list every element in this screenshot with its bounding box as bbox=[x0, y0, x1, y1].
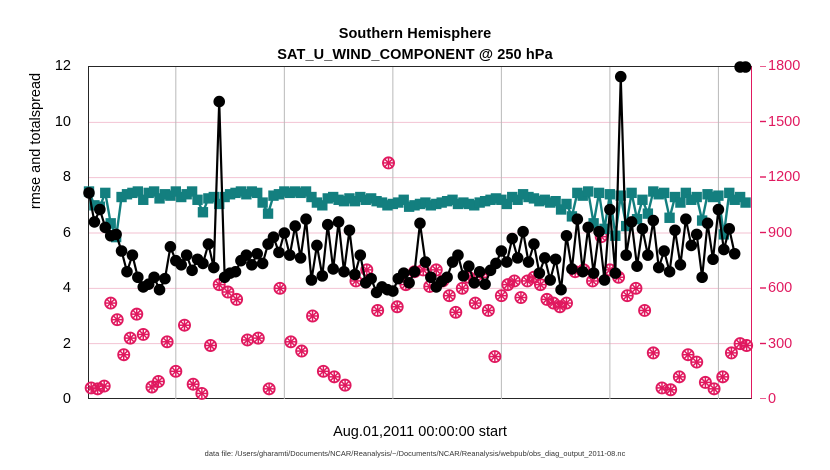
x-axis-title: Aug.01,2011 00:00:00 start bbox=[88, 424, 752, 440]
y-axis-left-tick: 2 bbox=[63, 336, 79, 352]
y-axis-left-tick: 8 bbox=[63, 169, 79, 185]
x-axis bbox=[88, 402, 752, 424]
y-axis-left-tick: 0 bbox=[63, 391, 79, 407]
y-axis-left-tick: 12 bbox=[55, 58, 79, 74]
chart-title: Southern Hemisphere SAT_U_WIND_COMPONENT… bbox=[0, 24, 830, 66]
plot-area bbox=[88, 66, 752, 399]
data-file-footer: data file: /Users/gharamti/Documents/NCA… bbox=[0, 449, 830, 458]
chart-title-line1: Southern Hemisphere bbox=[339, 26, 492, 42]
y-axis-left-title: rmse and totalspread bbox=[28, 1, 44, 281]
chart-legend bbox=[533, 78, 545, 83]
y-axis-left-tick: 4 bbox=[63, 280, 79, 296]
chart-title-line2: SAT_U_WIND_COMPONENT @ 250 hPa bbox=[0, 45, 830, 66]
y-axis-right: 0300600900120015001800 bbox=[760, 66, 820, 399]
y-axis-left-tick: 6 bbox=[63, 225, 79, 241]
y-axis-left-tick: 10 bbox=[55, 114, 79, 130]
data-series-layer bbox=[89, 67, 751, 399]
